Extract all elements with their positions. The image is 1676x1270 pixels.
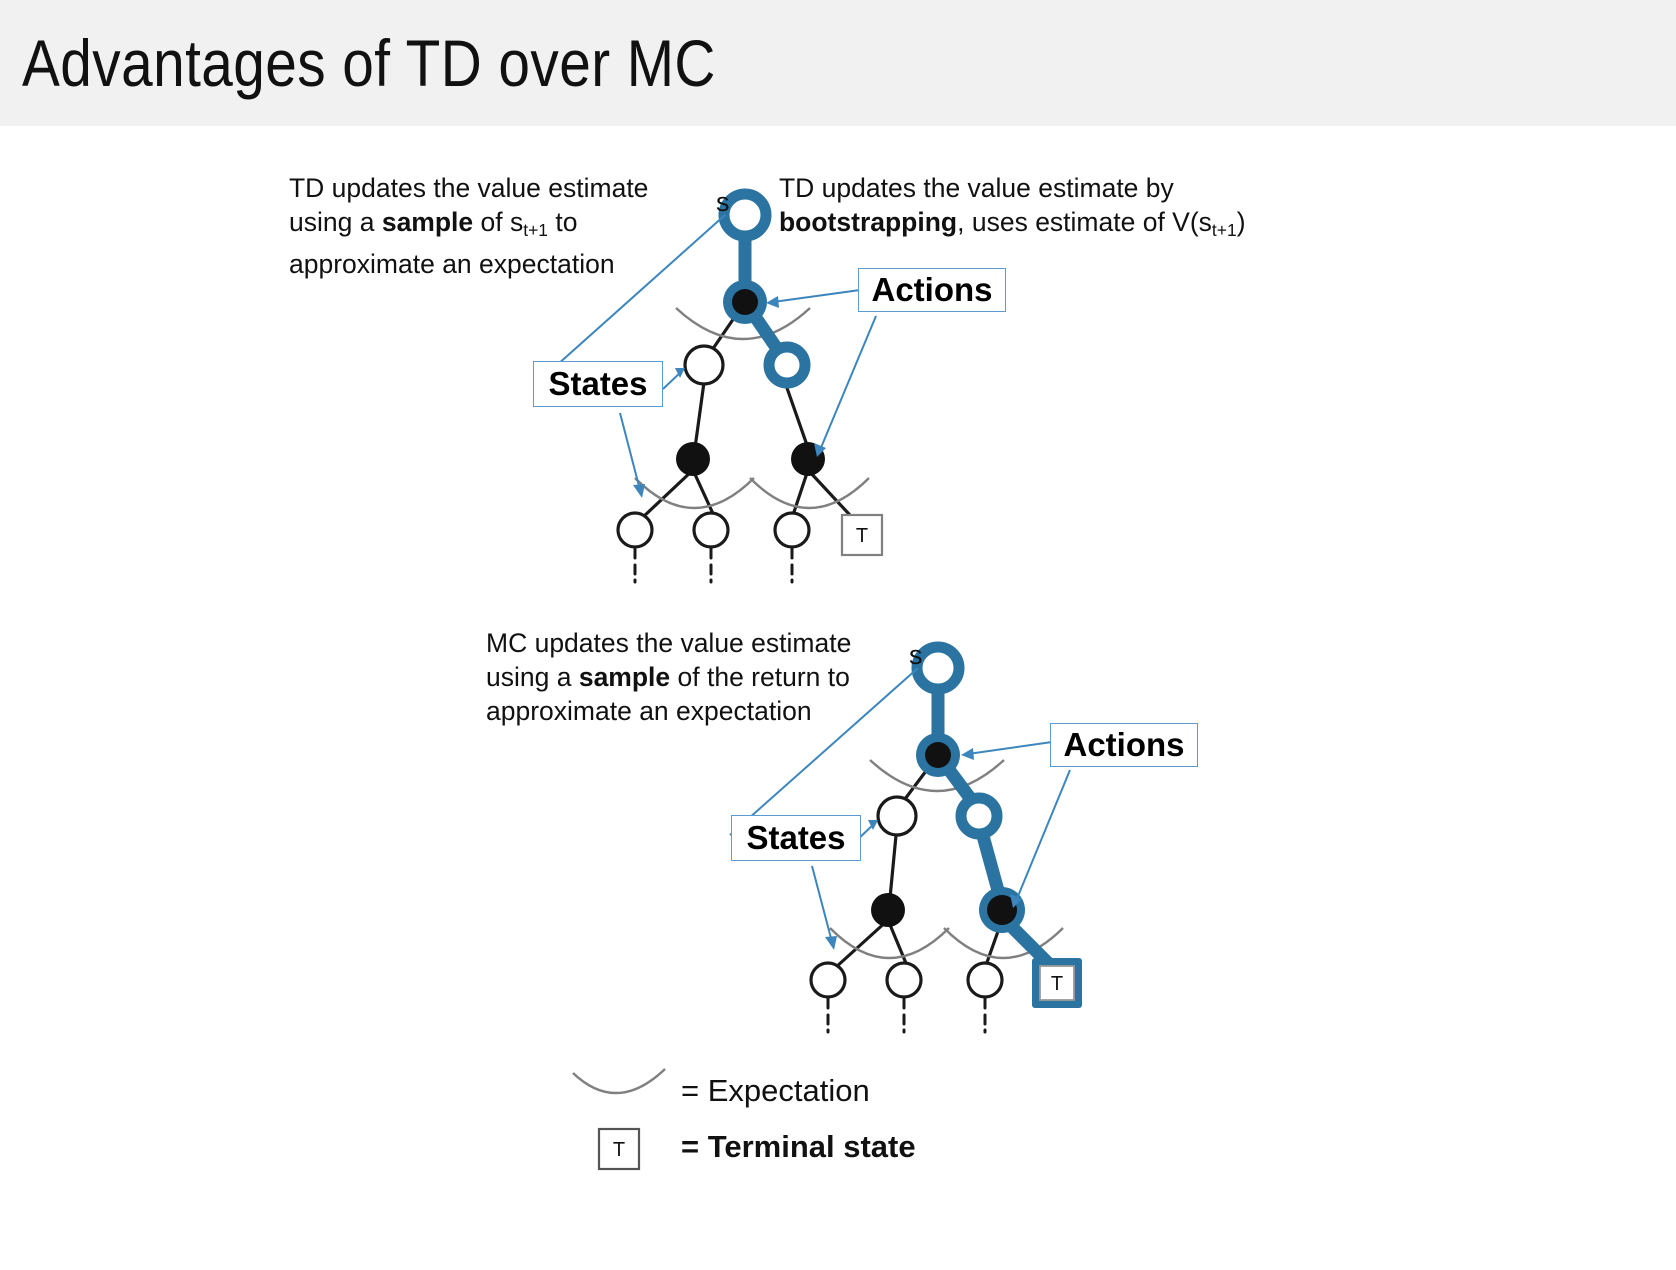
td-callout-actions[interactable]: Actions xyxy=(858,268,1006,312)
td-leaf-state-nodes xyxy=(618,513,809,547)
td-callout-actions-label: Actions xyxy=(871,271,992,309)
mc-continuation-stubs xyxy=(828,997,985,1032)
mc-callout-actions-label: Actions xyxy=(1063,726,1184,764)
mc-state-node-left xyxy=(878,797,916,835)
legend-terminal-label: = Terminal state xyxy=(681,1129,916,1165)
td-terminal-label: T xyxy=(856,525,868,547)
mc-caption-line2a: using a xyxy=(486,662,579,692)
td-expectation-arcs xyxy=(635,308,869,508)
mc-terminal-state-box: T xyxy=(1032,958,1082,1008)
td-callout-states-label: States xyxy=(548,365,647,403)
td-caption-left-bold: sample xyxy=(382,207,473,237)
td-caption-right-sub: t+1 xyxy=(1212,220,1237,240)
td-action-node-1 xyxy=(732,289,758,315)
mc-leaf-state-nodes xyxy=(811,963,1002,997)
mc-callout-actions[interactable]: Actions xyxy=(1050,723,1198,767)
terminal-state-icon: T xyxy=(599,1129,639,1169)
terminal-icon-label: T xyxy=(613,1139,625,1161)
legend-expectation-label: = Expectation xyxy=(681,1073,870,1109)
mc-callout-states-label: States xyxy=(746,819,845,857)
mc-caption-bold: sample xyxy=(579,662,670,692)
td-state-node-left xyxy=(685,346,723,384)
mc-tree-edges xyxy=(835,755,1002,968)
mc-action-node-2 xyxy=(871,893,905,927)
td-terminal-state-box: T xyxy=(842,515,882,555)
td-continuation-stubs xyxy=(635,547,792,582)
td-root-state-node xyxy=(724,194,766,236)
td-next-state-node xyxy=(769,347,805,383)
legend-glyphs: T xyxy=(555,1055,685,1175)
mc-callout-states[interactable]: States xyxy=(731,815,861,861)
mc-terminal-label: T xyxy=(1051,973,1063,995)
td-root-state-label: s xyxy=(716,187,730,217)
mc-expectation-arcs xyxy=(830,760,1063,958)
td-caption-right-line2a: , uses estimate of V(s xyxy=(957,207,1212,237)
page-title: Advantages of TD over MC xyxy=(22,24,716,102)
mc-action-node-1 xyxy=(925,742,951,768)
td-callout-states[interactable]: States xyxy=(533,361,663,407)
td-caption-left-line2a: using a xyxy=(289,207,382,237)
mc-root-state-label: s xyxy=(909,640,923,670)
td-tree-edges xyxy=(642,302,862,528)
slide-canvas: Advantages of TD over MC TD updates the … xyxy=(0,0,1676,1270)
td-caption-right-line2b: ) xyxy=(1237,207,1246,237)
expectation-arc-icon xyxy=(573,1069,665,1093)
mc-next-state-node xyxy=(961,798,997,834)
td-action-node-2 xyxy=(676,442,710,476)
mc-root-state-node xyxy=(917,647,959,689)
